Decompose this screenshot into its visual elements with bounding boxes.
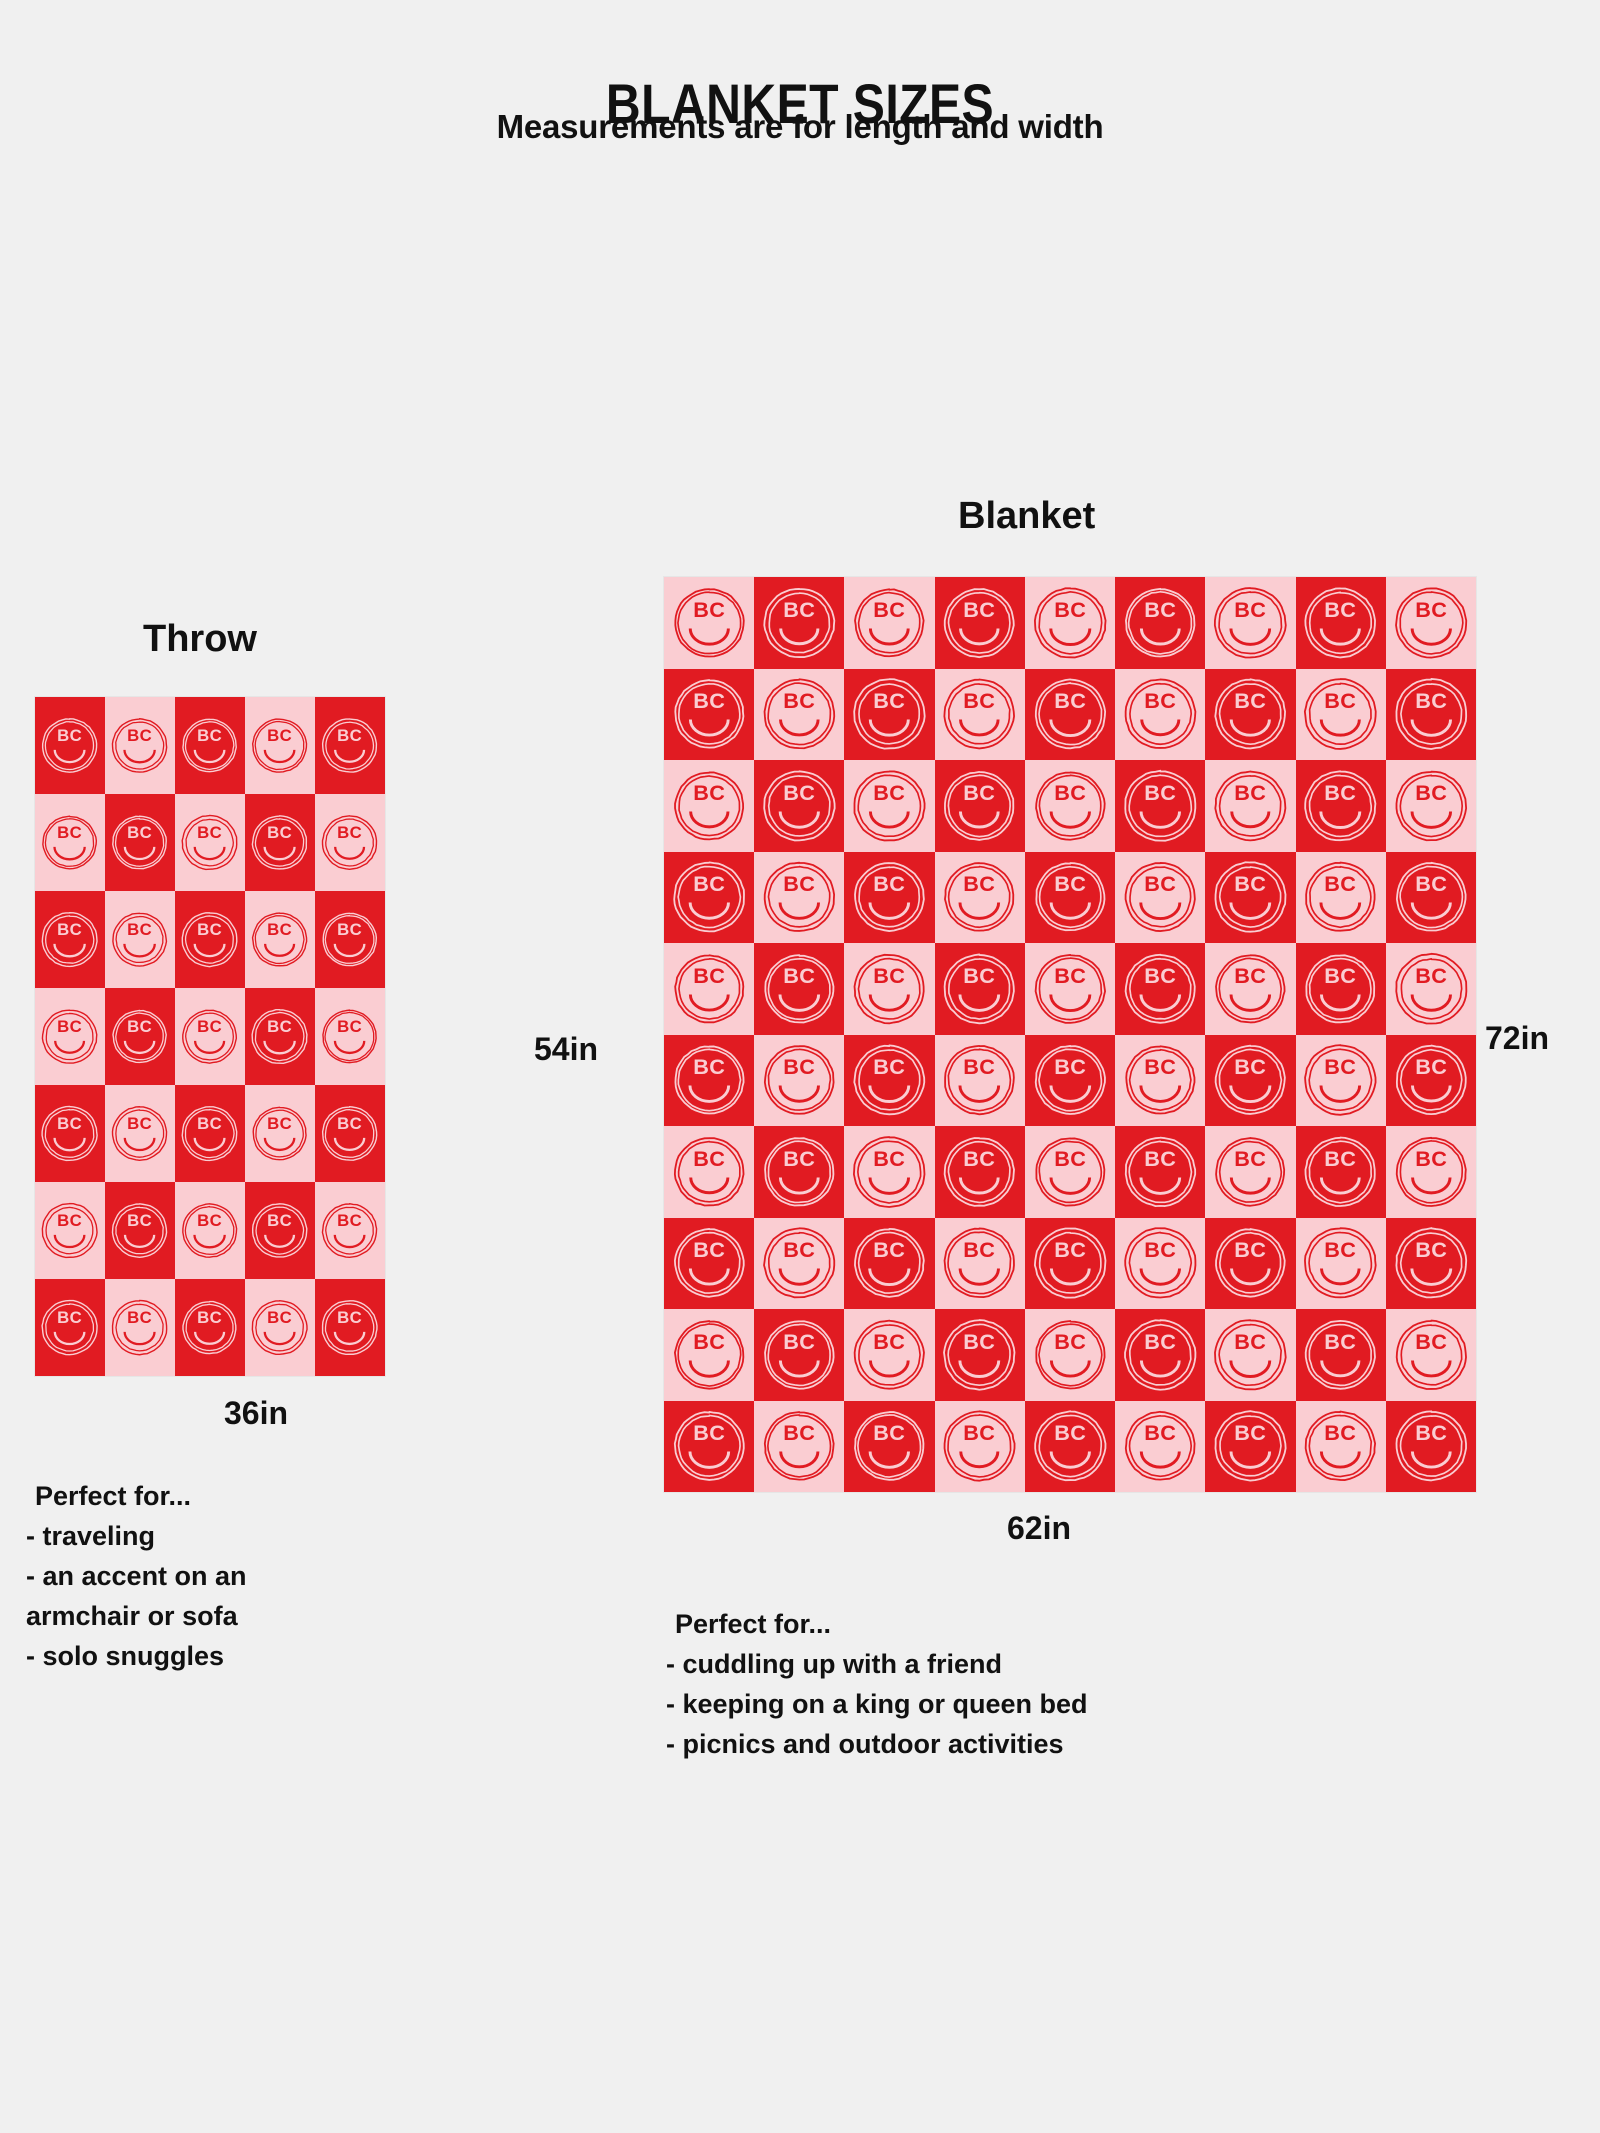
swatch-cell: BC: [754, 852, 844, 944]
swatch-cell: BC: [754, 943, 844, 1035]
svg-text:BC: BC: [783, 688, 815, 713]
svg-text:BC: BC: [783, 1329, 815, 1354]
svg-text:BC: BC: [198, 1308, 223, 1327]
swatch-cell: BC: [935, 577, 1025, 669]
svg-text:BC: BC: [1415, 1329, 1447, 1354]
swatch-cell: BC: [935, 1126, 1025, 1218]
swatch-cell: BC: [1205, 1035, 1295, 1127]
svg-text:BC: BC: [198, 726, 223, 745]
swatch-cell: BC: [1296, 577, 1386, 669]
svg-text:BC: BC: [783, 780, 815, 805]
svg-text:BC: BC: [1054, 871, 1086, 896]
svg-text:BC: BC: [1144, 1054, 1176, 1079]
svg-text:BC: BC: [1144, 1146, 1176, 1171]
swatch-cell: BC: [1025, 1126, 1115, 1218]
swatch-cell: BC: [1386, 1126, 1476, 1218]
swatch-cell: BC: [1386, 852, 1476, 944]
swatch-cell: BC: [664, 943, 754, 1035]
svg-text:BC: BC: [873, 780, 905, 805]
swatch-cell: BC: [35, 1182, 105, 1279]
svg-text:BC: BC: [268, 1211, 293, 1230]
svg-text:BC: BC: [1234, 1146, 1266, 1171]
svg-text:BC: BC: [1234, 597, 1266, 622]
svg-text:BC: BC: [128, 1017, 153, 1036]
swatch-cell: BC: [844, 1126, 934, 1218]
swatch-cell: BC: [1025, 577, 1115, 669]
swatch-cell: BC: [754, 1309, 844, 1401]
svg-text:BC: BC: [128, 1114, 153, 1133]
svg-text:BC: BC: [693, 1146, 725, 1171]
svg-text:BC: BC: [268, 1308, 293, 1327]
svg-text:BC: BC: [783, 1146, 815, 1171]
svg-text:BC: BC: [1325, 1420, 1357, 1445]
svg-text:BC: BC: [58, 1211, 83, 1230]
svg-text:BC: BC: [1415, 688, 1447, 713]
svg-text:BC: BC: [1144, 688, 1176, 713]
svg-text:BC: BC: [58, 1017, 83, 1036]
svg-text:BC: BC: [198, 1017, 223, 1036]
swatch-cell: BC: [245, 794, 315, 891]
svg-text:BC: BC: [338, 920, 363, 939]
svg-text:BC: BC: [1325, 1054, 1357, 1079]
svg-text:BC: BC: [1325, 1329, 1357, 1354]
swatch-cell: BC: [105, 794, 175, 891]
svg-text:BC: BC: [873, 963, 905, 988]
swatch-cell: BC: [664, 1401, 754, 1493]
blanket-swatch-grid: BC BC BC BC BC: [664, 577, 1476, 1492]
swatch-cell: BC: [1025, 760, 1115, 852]
swatch-cell: BC: [1205, 669, 1295, 761]
swatch-cell: BC: [175, 1182, 245, 1279]
perfect-for-item: - picnics and outdoor activities: [666, 1725, 1366, 1765]
swatch-cell: BC: [935, 1218, 1025, 1310]
swatch-cell: BC: [664, 577, 754, 669]
blanket-size-guide: BLANKET SIZES Measurements are for lengt…: [0, 0, 1600, 2133]
swatch-cell: BC: [754, 760, 844, 852]
swatch-cell: BC: [1115, 852, 1205, 944]
svg-text:BC: BC: [1054, 780, 1086, 805]
svg-text:BC: BC: [268, 1017, 293, 1036]
swatch-cell: BC: [754, 1126, 844, 1218]
swatch-cell: BC: [935, 760, 1025, 852]
swatch-cell: BC: [1025, 669, 1115, 761]
svg-text:BC: BC: [1054, 1237, 1086, 1262]
perfect-for-item: armchair or sofa: [26, 1597, 406, 1637]
swatch-cell: BC: [1386, 577, 1476, 669]
swatch-cell: BC: [245, 1182, 315, 1279]
swatch-cell: BC: [1205, 760, 1295, 852]
svg-text:BC: BC: [964, 1054, 996, 1079]
svg-text:BC: BC: [268, 1114, 293, 1133]
swatch-cell: BC: [1296, 1401, 1386, 1493]
svg-text:BC: BC: [128, 726, 153, 745]
swatch-cell: BC: [1386, 1218, 1476, 1310]
svg-text:BC: BC: [58, 823, 83, 842]
svg-text:BC: BC: [1054, 963, 1086, 988]
swatch-cell: BC: [105, 1182, 175, 1279]
swatch-cell: BC: [1296, 943, 1386, 1035]
svg-text:BC: BC: [1415, 597, 1447, 622]
svg-text:BC: BC: [1325, 1146, 1357, 1171]
blanket-height-label: 72in: [1485, 1022, 1549, 1054]
swatch-cell: BC: [844, 1309, 934, 1401]
svg-text:BC: BC: [1144, 1237, 1176, 1262]
svg-text:BC: BC: [693, 1054, 725, 1079]
swatch-cell: BC: [935, 852, 1025, 944]
swatch-cell: BC: [1386, 760, 1476, 852]
svg-text:BC: BC: [1415, 1420, 1447, 1445]
svg-text:BC: BC: [128, 920, 153, 939]
svg-text:BC: BC: [964, 871, 996, 896]
swatch-cell: BC: [105, 1085, 175, 1182]
swatch-cell: BC: [1205, 943, 1295, 1035]
swatch-cell: BC: [664, 1309, 754, 1401]
swatch-cell: BC: [1205, 577, 1295, 669]
svg-text:BC: BC: [1144, 597, 1176, 622]
svg-text:BC: BC: [964, 963, 996, 988]
perfect-for-item: - an accent on an: [26, 1557, 406, 1597]
swatch-cell: BC: [754, 577, 844, 669]
svg-text:BC: BC: [58, 920, 83, 939]
svg-text:BC: BC: [964, 780, 996, 805]
svg-text:BC: BC: [198, 823, 223, 842]
throw-swatch-grid: BC BC BC BC BC: [35, 697, 385, 1376]
svg-text:BC: BC: [783, 963, 815, 988]
swatch-cell: BC: [1025, 1218, 1115, 1310]
throw-heading: Throw: [143, 620, 257, 658]
svg-text:BC: BC: [268, 920, 293, 939]
svg-text:BC: BC: [1325, 780, 1357, 805]
svg-text:BC: BC: [873, 1054, 905, 1079]
swatch-cell: BC: [1025, 1309, 1115, 1401]
swatch-cell: BC: [1296, 760, 1386, 852]
svg-text:BC: BC: [873, 871, 905, 896]
svg-text:BC: BC: [873, 597, 905, 622]
swatch-cell: BC: [175, 891, 245, 988]
swatch-cell: BC: [1115, 943, 1205, 1035]
swatch-cell: BC: [105, 891, 175, 988]
swatch-cell: BC: [844, 943, 934, 1035]
swatch-cell: BC: [315, 1182, 385, 1279]
svg-text:BC: BC: [1144, 963, 1176, 988]
svg-text:BC: BC: [783, 1420, 815, 1445]
perfect-for-item: - solo snuggles: [26, 1637, 406, 1677]
perfect-for-heading: Perfect for...: [26, 1477, 406, 1517]
swatch-cell: BC: [1115, 669, 1205, 761]
svg-text:BC: BC: [1415, 871, 1447, 896]
svg-text:BC: BC: [338, 726, 363, 745]
swatch-cell: BC: [245, 891, 315, 988]
svg-text:BC: BC: [693, 780, 725, 805]
swatch-cell: BC: [315, 988, 385, 1085]
swatch-cell: BC: [1025, 943, 1115, 1035]
swatch-cell: BC: [1296, 1218, 1386, 1310]
swatch-cell: BC: [1205, 852, 1295, 944]
swatch-cell: BC: [1205, 1218, 1295, 1310]
swatch-cell: BC: [935, 1035, 1025, 1127]
swatch-cell: BC: [175, 1279, 245, 1376]
swatch-cell: BC: [1025, 1401, 1115, 1493]
svg-text:BC: BC: [1234, 871, 1266, 896]
swatch-cell: BC: [175, 794, 245, 891]
swatch-cell: BC: [844, 1218, 934, 1310]
svg-text:BC: BC: [1234, 688, 1266, 713]
svg-text:BC: BC: [198, 1211, 223, 1230]
swatch-cell: BC: [844, 1401, 934, 1493]
swatch-cell: BC: [245, 988, 315, 1085]
swatch-cell: BC: [1386, 1401, 1476, 1493]
svg-text:BC: BC: [964, 688, 996, 713]
svg-text:BC: BC: [693, 1329, 725, 1354]
swatch-cell: BC: [754, 1401, 844, 1493]
svg-text:BC: BC: [1234, 1420, 1266, 1445]
swatch-cell: BC: [935, 943, 1025, 1035]
svg-text:BC: BC: [693, 597, 725, 622]
svg-text:BC: BC: [693, 963, 725, 988]
swatch-cell: BC: [664, 1126, 754, 1218]
svg-text:BC: BC: [1325, 597, 1357, 622]
swatch-cell: BC: [844, 669, 934, 761]
swatch-cell: BC: [1205, 1401, 1295, 1493]
swatch-cell: BC: [105, 697, 175, 794]
svg-text:BC: BC: [128, 1308, 153, 1327]
swatch-cell: BC: [315, 1279, 385, 1376]
swatch-cell: BC: [35, 1279, 105, 1376]
swatch-cell: BC: [1386, 943, 1476, 1035]
swatch-cell: BC: [844, 1035, 934, 1127]
svg-text:BC: BC: [873, 1420, 905, 1445]
page-subtitle: Measurements are for length and width: [0, 110, 1600, 143]
swatch-cell: BC: [1296, 669, 1386, 761]
swatch-cell: BC: [35, 891, 105, 988]
blanket-width-label: 62in: [1007, 1512, 1071, 1544]
swatch-cell: BC: [754, 1218, 844, 1310]
perfect-for-item: - keeping on a king or queen bed: [666, 1685, 1366, 1725]
svg-text:BC: BC: [693, 1237, 725, 1262]
svg-text:BC: BC: [58, 1114, 83, 1133]
svg-text:BC: BC: [1234, 1329, 1266, 1354]
swatch-cell: BC: [844, 577, 934, 669]
svg-text:BC: BC: [1054, 1146, 1086, 1171]
swatch-cell: BC: [245, 1279, 315, 1376]
svg-text:BC: BC: [1144, 780, 1176, 805]
swatch-cell: BC: [1296, 1035, 1386, 1127]
perfect-for-heading: Perfect for...: [666, 1605, 1366, 1645]
swatch-cell: BC: [1115, 1126, 1205, 1218]
swatch-cell: BC: [175, 697, 245, 794]
swatch-cell: BC: [245, 697, 315, 794]
svg-text:BC: BC: [964, 597, 996, 622]
svg-text:BC: BC: [1415, 1146, 1447, 1171]
svg-text:BC: BC: [1144, 1329, 1176, 1354]
svg-text:BC: BC: [1415, 963, 1447, 988]
svg-text:BC: BC: [1325, 1237, 1357, 1262]
swatch-cell: BC: [935, 1309, 1025, 1401]
svg-text:BC: BC: [1234, 780, 1266, 805]
swatch-cell: BC: [664, 852, 754, 944]
swatch-cell: BC: [1115, 1309, 1205, 1401]
svg-text:BC: BC: [783, 1054, 815, 1079]
perfect-for-item: - traveling: [26, 1517, 406, 1557]
swatch-cell: BC: [664, 760, 754, 852]
perfect-for-item: - cuddling up with a friend: [666, 1645, 1366, 1685]
svg-text:BC: BC: [693, 1420, 725, 1445]
swatch-cell: BC: [105, 1279, 175, 1376]
swatch-cell: BC: [1386, 1309, 1476, 1401]
swatch-cell: BC: [754, 669, 844, 761]
svg-text:BC: BC: [873, 688, 905, 713]
swatch-cell: BC: [664, 1035, 754, 1127]
svg-text:BC: BC: [873, 1146, 905, 1171]
svg-text:BC: BC: [1234, 963, 1266, 988]
svg-text:BC: BC: [693, 871, 725, 896]
svg-text:BC: BC: [1325, 688, 1357, 713]
svg-text:BC: BC: [783, 597, 815, 622]
svg-text:BC: BC: [128, 1211, 153, 1230]
swatch-cell: BC: [1386, 1035, 1476, 1127]
swatch-cell: BC: [664, 1218, 754, 1310]
swatch-cell: BC: [315, 1085, 385, 1182]
swatch-cell: BC: [754, 1035, 844, 1127]
svg-text:BC: BC: [873, 1329, 905, 1354]
svg-text:BC: BC: [338, 1211, 363, 1230]
swatch-cell: BC: [844, 760, 934, 852]
swatch-cell: BC: [245, 1085, 315, 1182]
svg-text:BC: BC: [1234, 1237, 1266, 1262]
swatch-cell: BC: [35, 988, 105, 1085]
svg-text:BC: BC: [1054, 597, 1086, 622]
svg-text:BC: BC: [268, 823, 293, 842]
swatch-cell: BC: [935, 1401, 1025, 1493]
blanket-heading: Blanket: [958, 497, 1095, 535]
swatch-cell: BC: [175, 988, 245, 1085]
svg-text:BC: BC: [338, 1308, 363, 1327]
svg-text:BC: BC: [268, 726, 293, 745]
swatch-cell: BC: [1115, 1218, 1205, 1310]
swatch-cell: BC: [1386, 669, 1476, 761]
swatch-cell: BC: [1205, 1309, 1295, 1401]
svg-text:BC: BC: [1144, 1420, 1176, 1445]
swatch-cell: BC: [1115, 1401, 1205, 1493]
swatch-cell: BC: [935, 669, 1025, 761]
swatch-cell: BC: [315, 891, 385, 988]
swatch-cell: BC: [35, 697, 105, 794]
svg-text:BC: BC: [338, 1017, 363, 1036]
svg-text:BC: BC: [783, 1237, 815, 1262]
swatch-cell: BC: [1115, 760, 1205, 852]
swatch-cell: BC: [315, 794, 385, 891]
swatch-cell: BC: [1025, 1035, 1115, 1127]
svg-text:BC: BC: [128, 823, 153, 842]
swatch-cell: BC: [1296, 1126, 1386, 1218]
svg-text:BC: BC: [338, 823, 363, 842]
svg-text:BC: BC: [1234, 1054, 1266, 1079]
swatch-cell: BC: [1205, 1126, 1295, 1218]
svg-text:BC: BC: [964, 1237, 996, 1262]
svg-text:BC: BC: [1415, 780, 1447, 805]
throw-height-label: 54in: [534, 1033, 598, 1065]
svg-text:BC: BC: [338, 1114, 363, 1133]
throw-width-label: 36in: [224, 1397, 288, 1429]
swatch-cell: BC: [175, 1085, 245, 1182]
swatch-cell: BC: [844, 852, 934, 944]
blanket-perfect-for-list: Perfect for...- cuddling up with a frien…: [666, 1605, 1366, 1765]
svg-text:BC: BC: [964, 1329, 996, 1354]
svg-text:BC: BC: [693, 688, 725, 713]
svg-text:BC: BC: [873, 1237, 905, 1262]
svg-text:BC: BC: [964, 1420, 996, 1445]
svg-text:BC: BC: [1144, 871, 1176, 896]
svg-text:BC: BC: [1325, 963, 1357, 988]
svg-text:BC: BC: [1415, 1054, 1447, 1079]
svg-text:BC: BC: [783, 871, 815, 896]
swatch-cell: BC: [1025, 852, 1115, 944]
swatch-cell: BC: [35, 1085, 105, 1182]
swatch-cell: BC: [1115, 1035, 1205, 1127]
svg-text:BC: BC: [58, 1308, 83, 1327]
svg-text:BC: BC: [964, 1146, 996, 1171]
svg-text:BC: BC: [58, 726, 83, 745]
swatch-cell: BC: [1115, 577, 1205, 669]
swatch-cell: BC: [1296, 852, 1386, 944]
swatch-cell: BC: [315, 697, 385, 794]
svg-text:BC: BC: [198, 920, 223, 939]
swatch-cell: BC: [35, 794, 105, 891]
svg-text:BC: BC: [1054, 1054, 1086, 1079]
swatch-cell: BC: [664, 669, 754, 761]
svg-text:BC: BC: [1054, 1329, 1086, 1354]
svg-text:BC: BC: [1054, 1420, 1086, 1445]
swatch-cell: BC: [105, 988, 175, 1085]
svg-text:BC: BC: [198, 1114, 223, 1133]
svg-text:BC: BC: [1325, 871, 1357, 896]
swatch-cell: BC: [1296, 1309, 1386, 1401]
throw-perfect-for-list: Perfect for...- traveling- an accent on …: [26, 1477, 406, 1677]
svg-text:BC: BC: [1054, 688, 1086, 713]
svg-text:BC: BC: [1415, 1237, 1447, 1262]
